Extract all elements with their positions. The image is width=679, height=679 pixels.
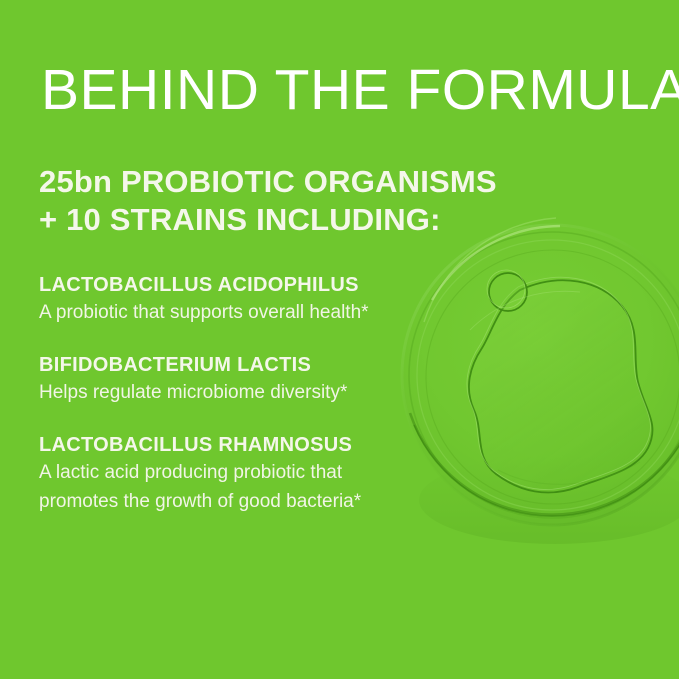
strain-name: LACTOBACILLUS ACIDOPHILUS xyxy=(39,273,439,298)
subheading-line-2: + 10 STRAINS INCLUDING: xyxy=(39,201,497,239)
strain-item: BIFIDOBACTERIUM LACTIS Helps regulate mi… xyxy=(39,353,439,407)
strain-description: A probiotic that supports overall health… xyxy=(39,298,391,327)
strain-name: LACTOBACILLUS RHAMNOSUS xyxy=(39,433,439,458)
strain-item: LACTOBACILLUS RHAMNOSUS A lactic acid pr… xyxy=(39,433,439,516)
strain-list: LACTOBACILLUS ACIDOPHILUS A probiotic th… xyxy=(39,273,439,516)
subheading: 25bn PROBIOTIC ORGANISMS + 10 STRAINS IN… xyxy=(39,163,497,239)
strain-description: Helps regulate microbiome diversity* xyxy=(39,378,391,407)
behind-the-formula-poster: BEHIND THE FORMULA 25bn PROBIOTIC ORGANI… xyxy=(0,0,679,679)
strain-name: BIFIDOBACTERIUM LACTIS xyxy=(39,353,439,378)
poster-content: BEHIND THE FORMULA 25bn PROBIOTIC ORGANI… xyxy=(0,0,679,679)
strain-description: A lactic acid producing probiotic that p… xyxy=(39,458,391,516)
page-title: BEHIND THE FORMULA xyxy=(41,60,679,120)
strain-item: LACTOBACILLUS ACIDOPHILUS A probiotic th… xyxy=(39,273,439,327)
subheading-line-1: 25bn PROBIOTIC ORGANISMS xyxy=(39,163,497,201)
